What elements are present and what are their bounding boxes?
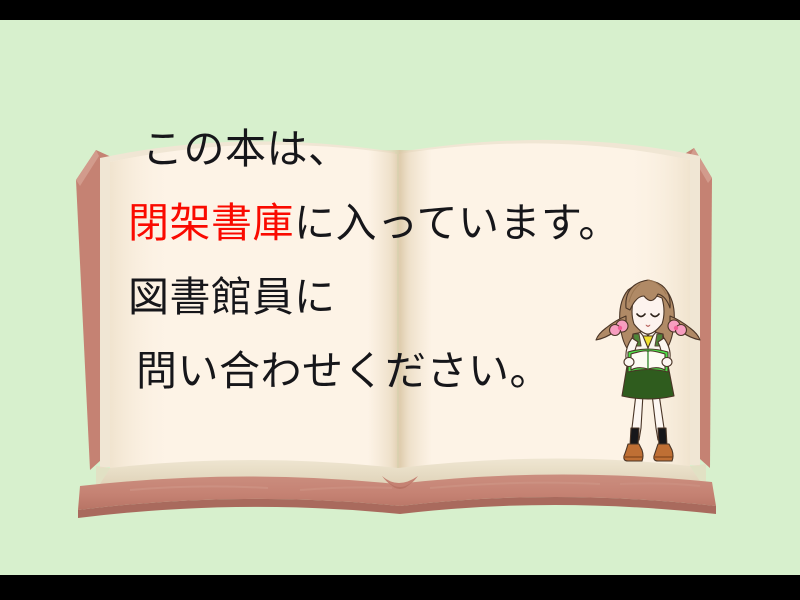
shoe-right [654, 444, 673, 461]
sock-left [630, 428, 639, 446]
message-line-4-text: 問い合わせください。 [136, 347, 551, 395]
message-line-2: 閉架書庫に入っています。 [128, 186, 728, 260]
shoe-left [624, 444, 643, 461]
message-line-1-text: この本は、 [142, 125, 350, 173]
slide-canvas: この本は、 閉架書庫に入っています。 図書館員に 問い合わせください。 [0, 0, 800, 600]
sock-right [658, 428, 667, 446]
letterbox-bottom [0, 575, 800, 600]
girl-reading-illustration [592, 268, 702, 468]
hand-left [624, 358, 634, 367]
hand-right [662, 358, 672, 367]
message-line-2-emphasis: 閉架書庫 [128, 199, 294, 247]
message-line-1: この本は、 [128, 112, 728, 186]
message-line-2-text: に入っています。 [294, 199, 620, 247]
letterbox-top [0, 0, 800, 20]
message-line-3-text: 図書館員に [128, 273, 336, 321]
